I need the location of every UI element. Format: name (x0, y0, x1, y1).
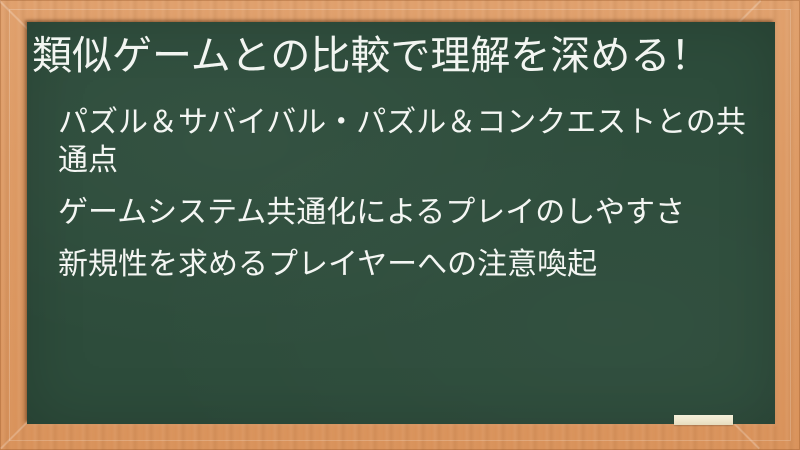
blackboard-surface: 類似ゲームとの比較で理解を深める！ パズル＆サバイバル・パズル＆コンクエストとの… (27, 22, 775, 424)
bullet-item-3: 新規性を求めるプレイヤーへの注意喚起 (58, 246, 758, 284)
blackboard-slide: 類似ゲームとの比較で理解を深める！ パズル＆サバイバル・パズル＆コンクエストとの… (0, 0, 800, 450)
slide-title: 類似ゲームとの比較で理解を深める！ (32, 30, 767, 82)
bullet-list: パズル＆サバイバル・パズル＆コンクエストとの共通点 ゲームシステム共通化によるプ… (58, 104, 758, 284)
chalk-eraser-icon (674, 415, 733, 425)
bullet-item-1: パズル＆サバイバル・パズル＆コンクエストとの共通点 (58, 104, 758, 180)
blackboard-content: 類似ゲームとの比較で理解を深める！ パズル＆サバイバル・パズル＆コンクエストとの… (27, 22, 775, 424)
bullet-item-2: ゲームシステム共通化によるプレイのしやすさ (58, 194, 758, 232)
